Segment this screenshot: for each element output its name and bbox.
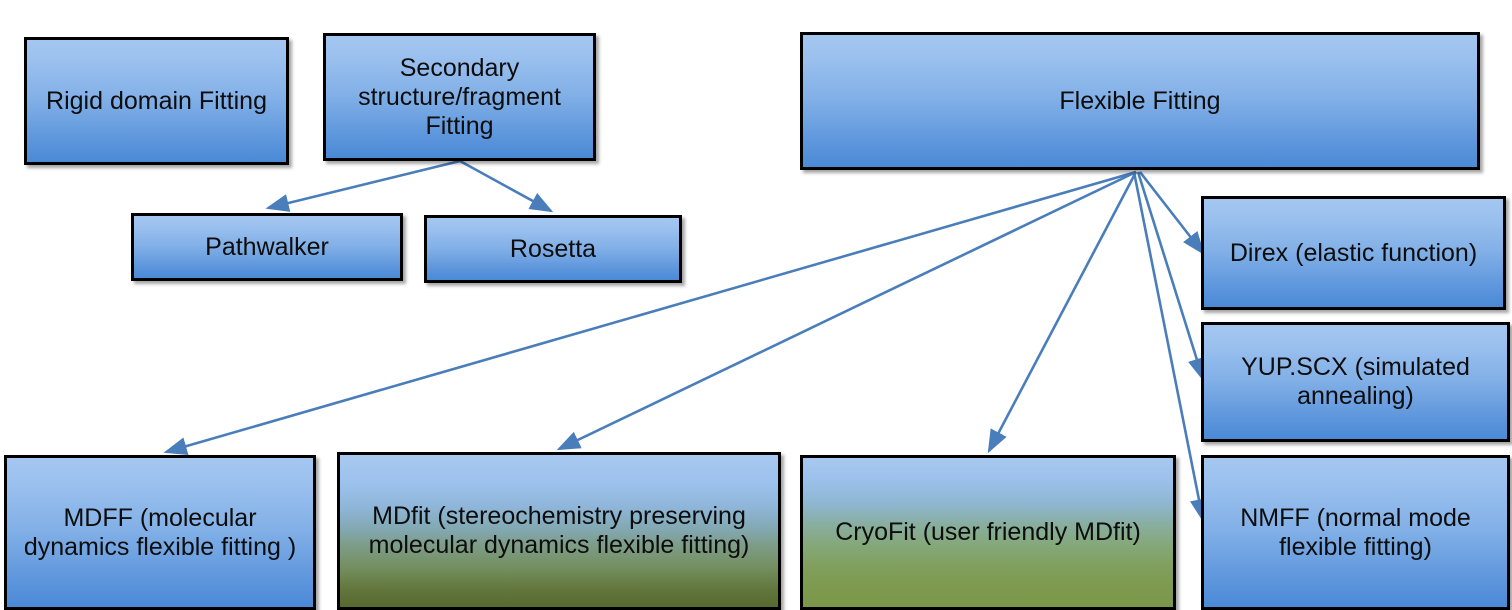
edge-secondary-to-pathwalker bbox=[268, 161, 460, 208]
node-label: Pathwalker bbox=[142, 233, 392, 262]
node-label: Flexible Fitting bbox=[811, 87, 1469, 116]
node-cryofit[interactable]: CryoFit (user friendly MDfit) bbox=[800, 455, 1176, 610]
node-label: Rosetta bbox=[435, 235, 671, 264]
node-label: YUP.SCX (simulated annealing) bbox=[1212, 353, 1499, 411]
node-label: Direx (elastic function) bbox=[1212, 239, 1495, 268]
node-label: CryoFit (user friendly MDfit) bbox=[811, 518, 1165, 547]
edge-flexible-to-cryofit bbox=[989, 172, 1136, 451]
node-direx[interactable]: Direx (elastic function) bbox=[1201, 196, 1506, 310]
node-mdff[interactable]: MDFF (molecular dynamics flexible fittin… bbox=[4, 455, 316, 610]
edge-flexible-to-mdfit bbox=[559, 172, 1136, 449]
node-label: NMFF (normal mode flexible fitting) bbox=[1212, 504, 1499, 562]
node-mdfit[interactable]: MDfit (stereochemistry preserving molecu… bbox=[337, 452, 781, 610]
node-nmff[interactable]: NMFF (normal mode flexible fitting) bbox=[1201, 455, 1510, 610]
node-label: MDfit (stereochemistry preserving molecu… bbox=[348, 502, 770, 560]
node-pathwalker[interactable]: Pathwalker bbox=[131, 213, 403, 281]
node-label: Rigid domain Fitting bbox=[35, 87, 278, 116]
node-label: MDFF (molecular dynamics flexible fittin… bbox=[15, 504, 305, 562]
edge-flexible-to-yupscx bbox=[1138, 172, 1203, 379]
edge-flexible-to-direx bbox=[1140, 172, 1203, 253]
node-rigid-domain-fitting[interactable]: Rigid domain Fitting bbox=[24, 37, 289, 165]
node-flexible-fitting[interactable]: Flexible Fitting bbox=[800, 32, 1480, 170]
diagram-canvas: Rigid domain FittingSecondary structure/… bbox=[0, 0, 1512, 610]
node-rosetta[interactable]: Rosetta bbox=[424, 215, 682, 283]
node-yup-scx[interactable]: YUP.SCX (simulated annealing) bbox=[1201, 322, 1510, 442]
node-label: Secondary structure/fragment Fitting bbox=[334, 54, 585, 141]
edge-secondary-to-rosetta bbox=[460, 161, 551, 211]
node-secondary-structure-fragment-fitting[interactable]: Secondary structure/fragment Fitting bbox=[323, 33, 596, 161]
